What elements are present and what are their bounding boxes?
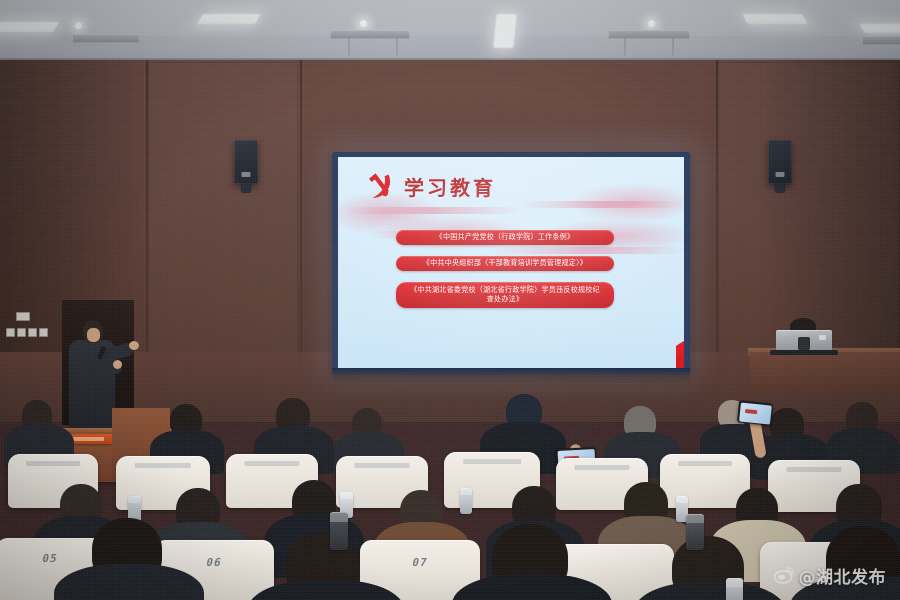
ceiling-air-vent — [862, 36, 900, 45]
weibo-watermark: @湖北发布 — [774, 563, 887, 588]
laptop-indicator — [819, 335, 826, 340]
laptop-port — [798, 337, 810, 350]
laptop — [776, 330, 832, 352]
seat-number: 06 — [205, 556, 223, 569]
chair-label-strip — [574, 465, 629, 470]
wall-switch-plate — [17, 328, 26, 337]
ceiling-air-vent — [608, 30, 690, 39]
chair-label-strip — [244, 461, 299, 466]
audience-area: 05 06 07 — [0, 392, 900, 600]
ceiling-light-strip — [859, 24, 900, 33]
vent-support — [396, 38, 398, 56]
slide-item-pill: 《中国共产党党校（行政学院）工作条例》 — [396, 230, 614, 245]
wall-switch-plate — [28, 328, 37, 337]
cup-lid — [460, 488, 472, 495]
ceiling-air-vent — [72, 34, 140, 43]
slide-item-text: 《中共湖北省委党校（湖北省行政学院）学员违反校规校纪查处办法》 — [407, 286, 603, 305]
party-hammer-sickle-emblem — [363, 170, 397, 204]
chair-label-strip — [463, 459, 521, 464]
water-cup — [460, 488, 472, 514]
screen-shadow — [332, 368, 690, 376]
water-bottle — [330, 512, 348, 550]
wall-speaker-right — [768, 140, 792, 184]
slide-item-pill: 《中共中央组织部〈干部教育培训学员管理规定〉》 — [396, 256, 614, 271]
vent-support — [348, 38, 350, 56]
presenter-face — [87, 328, 100, 342]
cup-lid — [340, 492, 353, 499]
laptop-base — [770, 350, 838, 355]
seat-number: 07 — [411, 556, 429, 569]
ceiling-light-strip — [197, 14, 261, 24]
chair-label-strip — [678, 461, 732, 466]
slide-flag-wave: ★ ★ ★ ★ ★ — [676, 308, 684, 368]
ceiling-downlight — [75, 22, 82, 29]
chair-label-strip — [26, 461, 80, 466]
wall-speaker-left — [234, 140, 258, 184]
ceiling-light-strip — [742, 14, 807, 24]
bottle-lid — [726, 578, 743, 587]
water-bottle — [686, 514, 704, 550]
slide-ribbon-art — [488, 247, 684, 254]
water-bottle — [726, 578, 743, 600]
wall-switch-plate — [39, 328, 48, 337]
presenter-hand — [129, 341, 139, 350]
slide-item-text: 《中国共产党党校（行政学院）工作条例》 — [436, 233, 575, 242]
chair-label-strip — [786, 467, 841, 472]
chair-label-strip — [135, 463, 191, 468]
chair-label-strip — [354, 463, 409, 468]
weibo-handle: @湖北发布 — [799, 563, 887, 588]
photo-stage: ★ ★ ★ ★ ★ 学习教育 《中国共产党党校（行政学院）工作条例》 《中共中央… — [0, 0, 900, 600]
ceiling-downlight — [360, 20, 367, 27]
ceiling-downlight — [648, 20, 655, 27]
speaker-badge — [776, 172, 785, 177]
ceiling-light-strip — [493, 14, 517, 48]
vent-support — [672, 38, 674, 56]
ceiling-air-vent — [330, 30, 410, 39]
wall-switch-plate — [16, 312, 30, 321]
ceiling-light-strip — [0, 22, 59, 32]
av-desk — [750, 352, 900, 392]
speaker-bracket — [775, 183, 786, 193]
vent-support — [624, 38, 626, 56]
seat-number: 05 — [41, 552, 59, 565]
slide-ribbon-art — [344, 207, 524, 214]
cup-lid — [676, 496, 688, 503]
speaker-bracket — [241, 183, 252, 193]
bottle-lid — [686, 514, 704, 523]
flag-wave-shape — [676, 308, 684, 368]
wall-switch-plate — [6, 328, 15, 337]
presenter-hand — [113, 360, 122, 369]
slide-item-text: 《中共中央组织部〈干部教育培训学员管理规定〉》 — [423, 259, 587, 268]
slide-title: 学习教育 — [404, 172, 496, 201]
speaker-badge — [242, 172, 251, 177]
phone-screen — [739, 402, 772, 424]
weibo-eye-icon — [774, 567, 794, 584]
hammer-sickle-icon — [363, 170, 397, 204]
slide-ribbon-art — [518, 201, 684, 208]
weibo-glyph — [774, 567, 794, 584]
bottle-lid — [330, 512, 348, 522]
smartphone — [737, 400, 773, 425]
cup-lid — [128, 496, 141, 503]
slide-item-pill: 《中共湖北省委党校（湖北省行政学院）学员违反校规校纪查处办法》 — [396, 282, 614, 308]
